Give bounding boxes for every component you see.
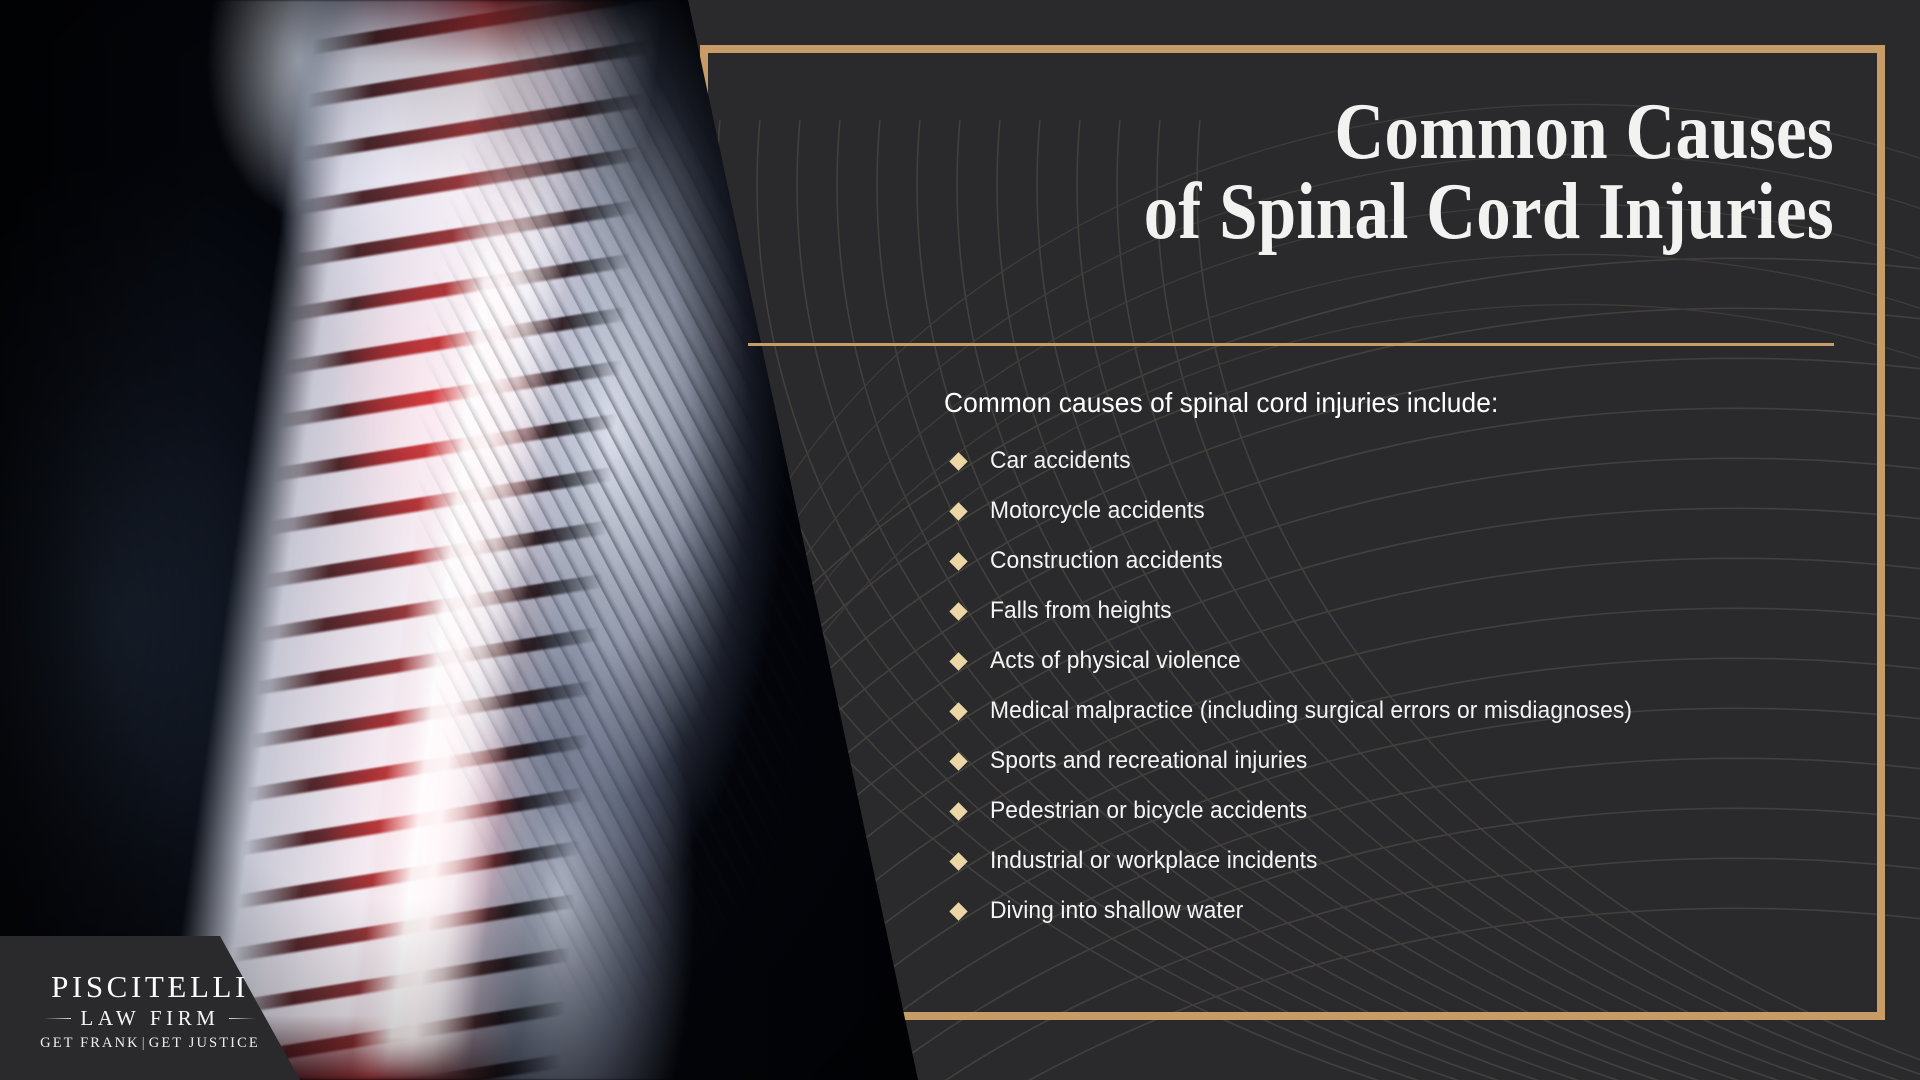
list-item-label: Medical malpractice (including surgical … xyxy=(990,697,1632,725)
diamond-bullet-icon xyxy=(949,752,967,770)
list-item-label: Motorcycle accidents xyxy=(990,497,1205,525)
logo-subtitle-row: LAW FIRM xyxy=(0,1006,300,1030)
body-content: Common causes of spinal cord injuries in… xyxy=(944,386,1864,936)
list-item: Motorcycle accidents xyxy=(944,486,1864,536)
diamond-bullet-icon xyxy=(949,602,967,620)
list-item-label: Construction accidents xyxy=(990,547,1223,575)
logo-subtitle: LAW FIRM xyxy=(80,1006,219,1030)
list-item-label: Acts of physical violence xyxy=(990,647,1241,675)
diamond-bullet-icon xyxy=(949,802,967,820)
list-item-label: Car accidents xyxy=(990,447,1131,475)
list-item: Medical malpractice (including surgical … xyxy=(944,686,1864,736)
list-item: Construction accidents xyxy=(944,536,1864,586)
list-item-label: Industrial or workplace incidents xyxy=(990,847,1318,875)
diamond-bullet-icon xyxy=(949,502,967,520)
logo-tagline-divider: | xyxy=(142,1035,147,1051)
diamond-bullet-icon xyxy=(949,702,967,720)
list-item: Industrial or workplace incidents xyxy=(944,836,1864,886)
slide-canvas: Common Causes of Spinal Cord Injuries Co… xyxy=(0,0,1920,1080)
logo-tagline-left: GET FRANK xyxy=(40,1035,140,1051)
causes-list: Car accidents Motorcycle accidents Const… xyxy=(944,436,1864,936)
title-line-1: Common Causes xyxy=(922,92,1834,172)
list-item: Diving into shallow water xyxy=(944,886,1864,936)
list-item: Car accidents xyxy=(944,436,1864,486)
list-item-label: Pedestrian or bicycle accidents xyxy=(990,797,1307,825)
list-item-label: Falls from heights xyxy=(990,597,1172,625)
logo-rule-left-icon xyxy=(44,1018,71,1019)
diamond-bullet-icon xyxy=(949,552,967,570)
diamond-bullet-icon xyxy=(949,452,967,470)
logo-tagline: GET FRANK|GET JUSTICE xyxy=(0,1034,300,1052)
page-title: Common Causes of Spinal Cord Injuries xyxy=(774,92,1834,252)
list-item: Sports and recreational injuries xyxy=(944,736,1864,786)
diamond-bullet-icon xyxy=(949,902,967,920)
brand-logo: PISCITELLI LAW FIRM GET FRANK|GET JUSTIC… xyxy=(0,936,300,1080)
list-item-label: Sports and recreational injuries xyxy=(990,747,1307,775)
list-item-label: Diving into shallow water xyxy=(990,897,1243,925)
diamond-bullet-icon xyxy=(949,852,967,870)
list-item: Pedestrian or bicycle accidents xyxy=(944,786,1864,836)
intro-text: Common causes of spinal cord injuries in… xyxy=(944,386,1809,420)
logo-firm-name: PISCITELLI xyxy=(0,970,300,1004)
logo-tagline-right: GET JUSTICE xyxy=(149,1035,260,1051)
list-item: Acts of physical violence xyxy=(944,636,1864,686)
title-divider-rule xyxy=(748,343,1834,346)
title-line-2: of Spinal Cord Injuries xyxy=(922,172,1834,252)
diamond-bullet-icon xyxy=(949,652,967,670)
list-item: Falls from heights xyxy=(944,586,1864,636)
logo-rule-right-icon xyxy=(229,1018,256,1019)
